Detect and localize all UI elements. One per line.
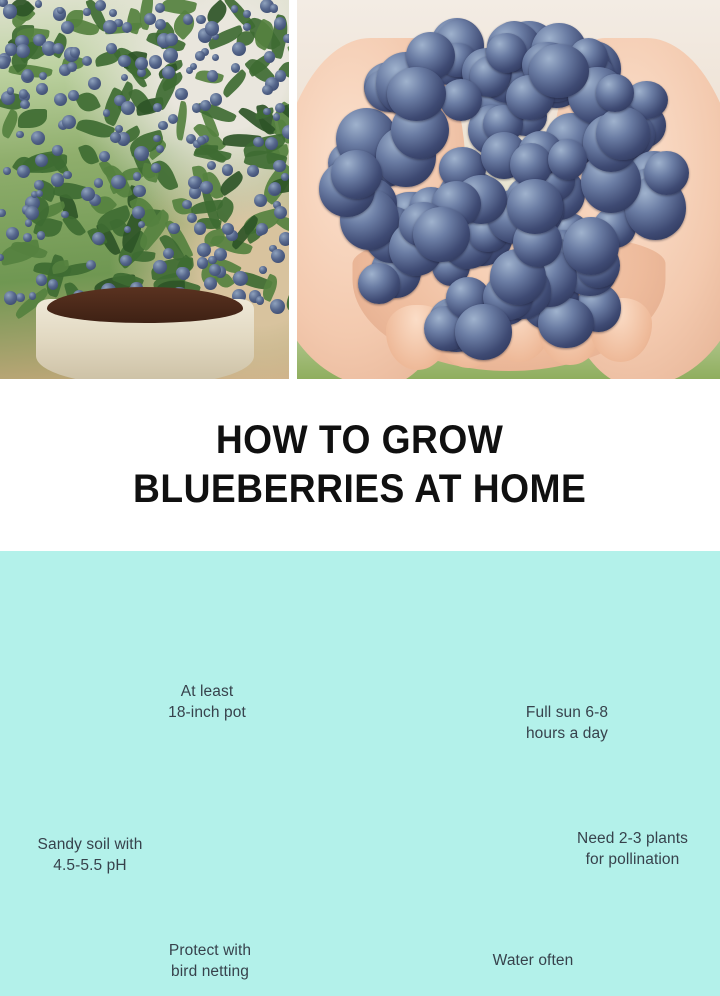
- page-title: HOW TO GROW BLUEBERRIES AT HOME: [0, 379, 720, 551]
- tip-label-pollination: Need 2-3 plants for pollination: [545, 829, 720, 870]
- tip-label-water: Water often: [444, 951, 622, 972]
- tip-label-netting: Protect with bird netting: [125, 941, 295, 982]
- title-line-1: HOW TO GROW: [216, 416, 504, 465]
- tip-label-soil: Sandy soil with 4.5-5.5 pH: [0, 835, 180, 876]
- care-tips-infographic: At least 18-inch pot Sandy soil with 4.5…: [0, 551, 720, 996]
- potted-blueberry-bush-photo: [0, 0, 289, 379]
- tip-label-sun: Full sun 6-8 hours a day: [478, 703, 656, 744]
- title-line-2: BLUEBERRIES AT HOME: [133, 465, 586, 514]
- tip-label-pot: At least 18-inch pot: [118, 682, 296, 723]
- pinterest-infographic-page: HOW TO GROW BLUEBERRIES AT HOME At least…: [0, 0, 720, 996]
- hands-holding-blueberries-photo: [297, 0, 720, 379]
- photo-strip: [0, 0, 720, 379]
